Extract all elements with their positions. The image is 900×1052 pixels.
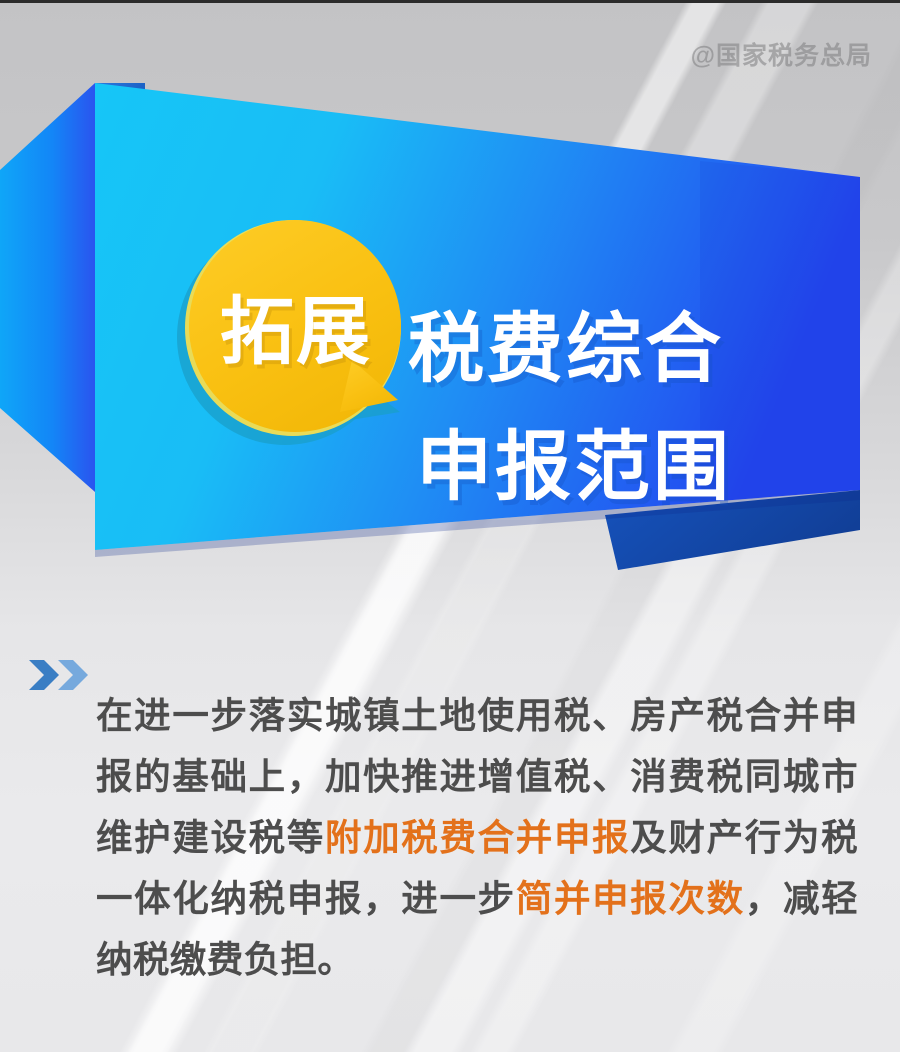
banner-title: 税费综合 申报范围	[408, 290, 878, 526]
double-chevron-icon	[28, 658, 90, 692]
banner-bubble-word: 拓展	[196, 292, 396, 372]
body-paragraph-block: 在进一步落实城镇土地使用税、房产税合并申报的基础上，加快推进增值税、消费税同城市…	[96, 648, 858, 1026]
body-paragraph: 在进一步落实城镇土地使用税、房产税合并申报的基础上，加快推进增值税、消费税同城市…	[96, 685, 858, 990]
banner-title-line-2: 申报范围	[416, 408, 878, 526]
banner-title-line-1: 税费综合	[408, 290, 878, 408]
poster-canvas: @国家税务总局	[0, 0, 900, 1052]
paragraph-segment-highlight: 简并申报次数	[516, 877, 745, 920]
top-edge-line	[0, 0, 900, 3]
banner: 拓展 税费综合 申报范围	[0, 60, 900, 580]
paragraph-segment-highlight: 附加税费合并申报	[325, 816, 630, 859]
